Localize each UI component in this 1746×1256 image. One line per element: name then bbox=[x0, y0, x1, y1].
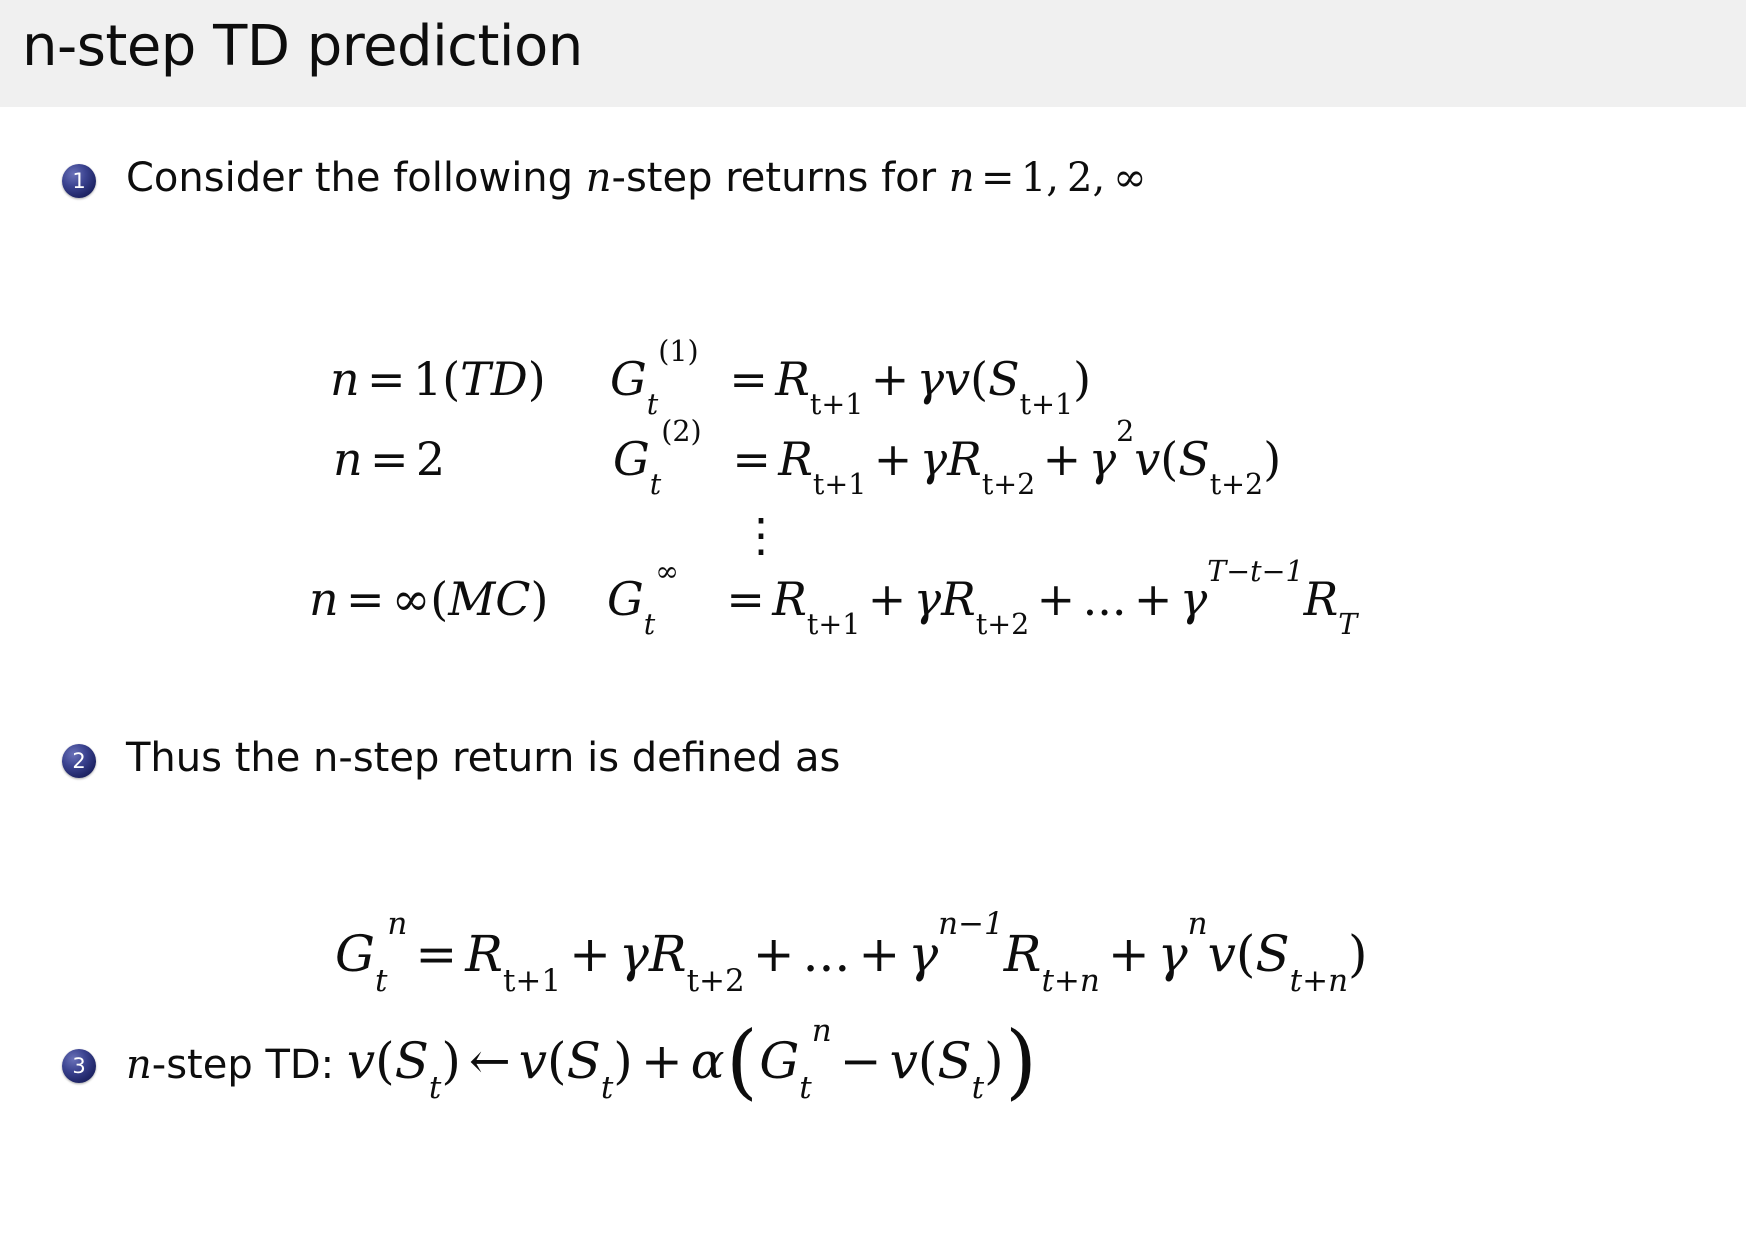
list-item-1: 1 Consider the following n-step returns … bbox=[62, 155, 1146, 201]
list-item-2-text: Thus the n-step return is defined as bbox=[126, 735, 840, 781]
enumerate-ball-1: 1 bbox=[62, 164, 96, 198]
enumerate-ball-2: 2 bbox=[62, 744, 96, 778]
slide-body: 1 Consider the following n-step returns … bbox=[0, 107, 1746, 1256]
equation-row-ninf-rhs: =Rt+1+γRt+2+...+γT−t−1RT bbox=[719, 572, 1357, 626]
enumerate-ball-3: 3 bbox=[62, 1049, 96, 1083]
equation-row-n2-lhs: n=2 bbox=[330, 432, 613, 486]
list-item-2: 2 Thus the n-step return is defined as bbox=[62, 735, 840, 781]
item1-tail-math: n=1, 2, ∞ bbox=[949, 155, 1147, 201]
item1-text-before: Consider the following bbox=[126, 155, 586, 201]
vertical-ellipsis: ⋮ bbox=[738, 512, 1357, 558]
slide-header-band: n-step TD prediction bbox=[0, 0, 1746, 107]
item3-prefix-rest: -step TD: bbox=[152, 1042, 334, 1088]
equation-row-n1-rhs: =Rt+1+γv(St+1) bbox=[722, 352, 1091, 406]
list-item-3: 3 n-step TD: v(St)←v(St)+α(Gtn−v(St)) bbox=[62, 1032, 1038, 1090]
equation-row-n2-rhs: =Rt+1+γRt+2+γ2v(St+2) bbox=[725, 432, 1281, 486]
list-item-3-text: n-step TD: v(St)←v(St)+α(Gtn−v(St)) bbox=[126, 1032, 1038, 1090]
equation-row-ninf-lhs: n=∞(MC) bbox=[309, 572, 607, 626]
big-paren-close: ) bbox=[1004, 1015, 1039, 1109]
item1-italic-n: n bbox=[586, 155, 612, 201]
n-step-returns-equations: n=1(TD) Gt(1) =Rt+1+γv(St+1) n=2 Gt(2) =… bbox=[330, 352, 1357, 652]
equation-row-ninf: n=∞(MC) Gt∞ =Rt+1+γRt+2+...+γT−t−1RT bbox=[330, 572, 1357, 626]
equation-row-ninf-symbol: Gt∞ bbox=[607, 572, 719, 626]
equation-row-n2-symbol: Gt(2) bbox=[613, 432, 725, 486]
item3-italic-n: n bbox=[126, 1042, 152, 1088]
n-step-return-equation: Gtn=Rt+1+γRt+2+...+γn−1Rt+n+γnv(St+n) bbox=[335, 925, 1368, 983]
equation-row-n1-lhs: n=1(TD) bbox=[330, 352, 610, 406]
n-step-td-update-equation: v(St)←v(St)+α(Gtn−v(St)) bbox=[347, 1032, 1039, 1090]
list-item-1-text: Consider the following n-step returns fo… bbox=[126, 155, 1146, 201]
equation-row-n1: n=1(TD) Gt(1) =Rt+1+γv(St+1) bbox=[330, 352, 1357, 406]
equation-row-n2: n=2 Gt(2) =Rt+1+γRt+2+γ2v(St+2) bbox=[330, 432, 1357, 486]
equation-row-n1-symbol: Gt(1) bbox=[610, 352, 722, 406]
page-title: n-step TD prediction bbox=[22, 14, 583, 79]
big-paren-open: ( bbox=[724, 1015, 759, 1109]
item1-text-after: -step returns for bbox=[612, 155, 949, 201]
